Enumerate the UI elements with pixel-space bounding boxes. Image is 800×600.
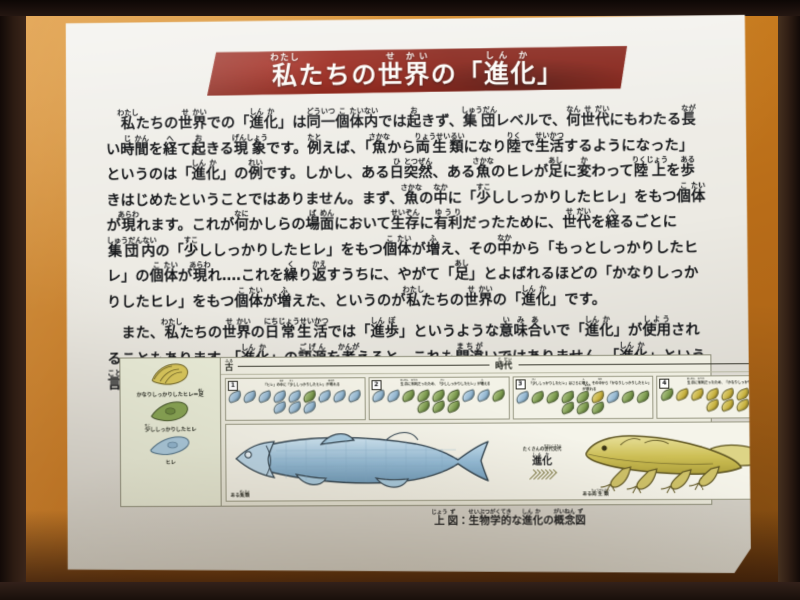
panel-number: 2 (371, 380, 381, 390)
fin-green (544, 390, 560, 404)
panel-number: 1 (228, 381, 238, 391)
timeline-line-right (518, 363, 771, 365)
legend-label-green: 少すこししっかりしたヒレ (144, 423, 196, 433)
fin-blue (332, 389, 348, 403)
fin-grid-2 (371, 390, 506, 412)
fin-blue-icon (149, 434, 193, 458)
fin-blue (257, 390, 273, 404)
fish-illustration: ある魚類ぎょるい (226, 424, 506, 501)
fin-yellow-icon (148, 361, 192, 387)
fish-label: ある魚類ぎょるい (231, 491, 250, 499)
frame-top (0, 0, 800, 16)
diagram-panel-3: 3 「少すこししっかりしたヒレ」はさらに増ふえ、その中なかから「かなりしっかりし… (512, 376, 654, 420)
fin-grid-3 (515, 392, 650, 414)
fin-green (659, 388, 676, 402)
fin-green (590, 401, 607, 415)
legend-label-yellow: かなりしっかりしたヒレ＝足あし (136, 388, 204, 398)
evolution-label: 進しん化か (532, 452, 552, 468)
chevron-arrows-icon (530, 469, 554, 479)
fish-icon (226, 424, 506, 497)
fin-green (575, 401, 592, 415)
exhibit-photo: 私わたしたちの世せ界かいの「進しん化か」 私わたしたちの世せ界かいでの「進しん化… (0, 0, 800, 600)
timeline-middle-label: 時じ代だい (493, 358, 514, 372)
frame-bottom (0, 582, 800, 600)
fin-blue (317, 389, 333, 403)
body-text: 私わたしたちの世せ界かいでの「進しん化か」は同どう一いつ個こ体たい内ないでは起お… (106, 104, 708, 398)
fin-yellow (674, 388, 691, 402)
fin-green (529, 391, 545, 405)
exhibit-board: 私わたしたちの世せ界かいの「進しん化か」 私わたしたちの世せ界かいでの「進しん化… (62, 15, 751, 575)
fin-blue (347, 389, 363, 403)
legend-label-blue: ヒレ (165, 458, 175, 465)
fin-grid-1 (228, 391, 363, 413)
fin-green (560, 401, 576, 415)
fin-blue (386, 389, 402, 403)
panel-caption: 「ヒレ」の中なかに「少すこししっかりしたヒレ」が現あらわれる (241, 380, 362, 387)
panel-caption: 生存せいぞんに有利ゆうりだったため、「少すこししっかりしたヒレ」が増ふえる (384, 379, 506, 386)
paragraph-1: 私わたしたちの世せ界かいでの「進しん化か」は同どう一いつ個こ体たい内ないでは起お… (106, 104, 707, 316)
fin-green (635, 390, 652, 404)
timeline-start-label: 古ふる (225, 359, 234, 373)
fin-blue (605, 390, 622, 404)
fin-green (620, 390, 637, 404)
fin-yellow (734, 398, 751, 412)
timeline-line-left (237, 365, 489, 367)
fin-blue (476, 389, 492, 403)
fin-blue (371, 389, 387, 403)
diagram-panel-1: 1 「ヒレ」の中なかに「少すこししっかりしたヒレ」が現あらわれる (225, 377, 366, 421)
evolution-arrow-block: たくさんの世代交代せだいこうたい 進しん化か (506, 423, 579, 499)
fin-blue (242, 390, 258, 404)
fin-blue (227, 390, 243, 404)
figure-caption: 上じょう図ず：生せい物ぶつ学がく的てきな進しん化かの概がい念ねん図ず (431, 509, 712, 528)
fin-yellow (704, 399, 721, 413)
fin-green-icon (148, 399, 192, 423)
frame-left (0, 0, 26, 600)
title-banner: 私わたしたちの世せ界かいの「進しん化か」 (207, 46, 627, 96)
creature-row: ある魚類ぎょるい たくさんの世代交代せだいこうたい 進しん化か (225, 421, 799, 502)
legend-item-yellow: かなりしっかりしたヒレ＝足あし (136, 361, 204, 398)
fin-blue (514, 391, 530, 405)
fin-blue (461, 389, 477, 403)
panel-number: 4 (659, 379, 669, 389)
diagram-legend: かなりしっかりしたヒレ＝足あし 少すこししっかりしたヒレ (120, 358, 221, 506)
fin-yellow (719, 398, 736, 412)
evolution-diagram: かなりしっかりしたヒレ＝足あし 少すこししっかりしたヒレ (119, 354, 712, 507)
legend-item-blue: ヒレ (149, 434, 193, 466)
diagram-panel-2: 2 生存せいぞんに有利ゆうりだったため、「少すこししっかりしたヒレ」が増ふえる (368, 376, 509, 420)
amphibian-label: ある両生類りょうせいるい (583, 489, 610, 497)
panel-number: 3 (515, 379, 525, 389)
generations-label: たくさんの世代交代せだいこうたい (523, 444, 562, 452)
fin-yellow (689, 388, 706, 402)
page-title: 私わたしたちの世せ界かいの「進しん化か」 (270, 50, 564, 92)
fin-green (401, 389, 417, 403)
fin-green (491, 389, 507, 403)
frame-right (778, 0, 800, 600)
legend-item-green: 少すこししっかりしたヒレ (144, 399, 196, 434)
panel-row: 1 「ヒレ」の中なかに「少すこししっかりしたヒレ」が現あらわれる 2 生存せいぞ… (221, 372, 800, 424)
